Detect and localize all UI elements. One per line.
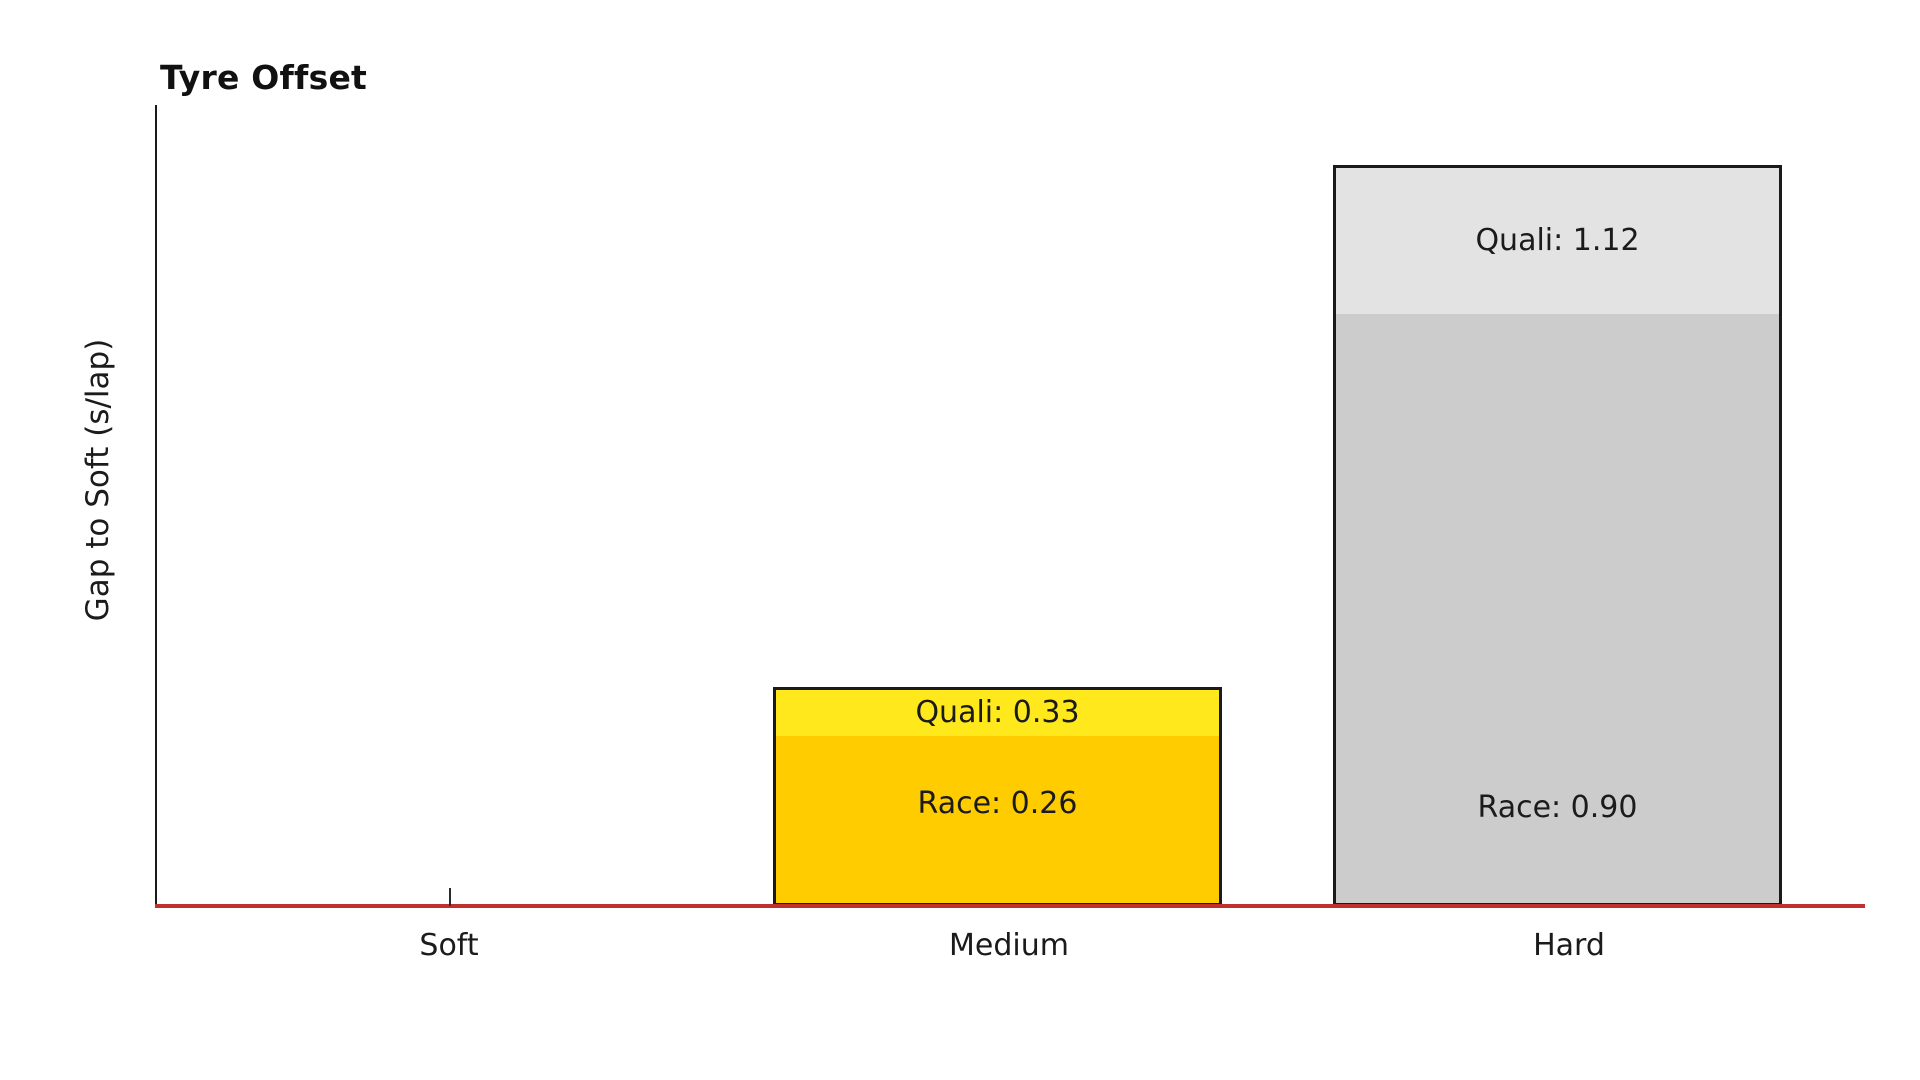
y-axis-label: Gap to Soft (s/lap) [80,339,116,622]
x-tick-label-hard: Hard [1533,928,1605,963]
plot-area: Quali: 0.33 Race: 0.26 Quali: 1.12 Race:… [155,105,1865,906]
bar-hard-quali-segment: Quali: 1.12 [1336,168,1779,314]
bar-medium-race-segment: Race: 0.26 [776,736,1219,903]
bar-medium-race-label: Race: 0.26 [918,789,1078,819]
page-title: Tyre Offset [160,58,367,97]
y-axis-label-container: Gap to Soft (s/lap) [74,200,122,760]
tyre-offset-chart: Tyre Offset Gap to Soft (s/lap) Quali: 0… [0,0,1920,1080]
x-axis-baseline [155,904,1865,908]
bar-hard-race-label: Race: 0.90 [1478,793,1638,823]
bar-hard-race-segment: Race: 0.90 [1336,314,1779,903]
x-tick-soft [449,888,451,906]
bar-hard-quali-label: Quali: 1.12 [1475,226,1639,256]
bar-medium-quali-label: Quali: 0.33 [915,698,1079,728]
bar-hard[interactable]: Quali: 1.12 Race: 0.90 [1333,165,1782,906]
x-tick-label-medium: Medium [949,928,1069,963]
x-tick-label-soft: Soft [419,928,478,963]
bar-medium[interactable]: Quali: 0.33 Race: 0.26 [773,687,1222,906]
bar-medium-quali-segment: Quali: 0.33 [776,690,1219,736]
